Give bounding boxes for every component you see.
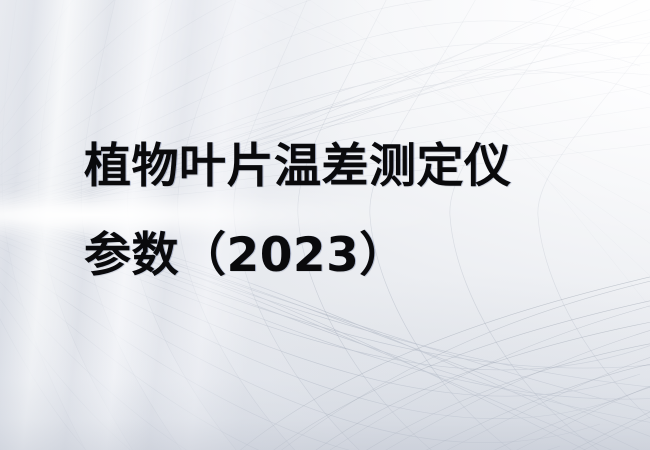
title-line-1: 植物叶片温差测定仪 (84, 122, 604, 211)
banner-image: 植物叶片温差测定仪 参数（2023） (0, 0, 650, 450)
banner-title: 植物叶片温差测定仪 参数（2023） (84, 122, 604, 300)
title-line-2: 参数（2023） (84, 211, 604, 300)
